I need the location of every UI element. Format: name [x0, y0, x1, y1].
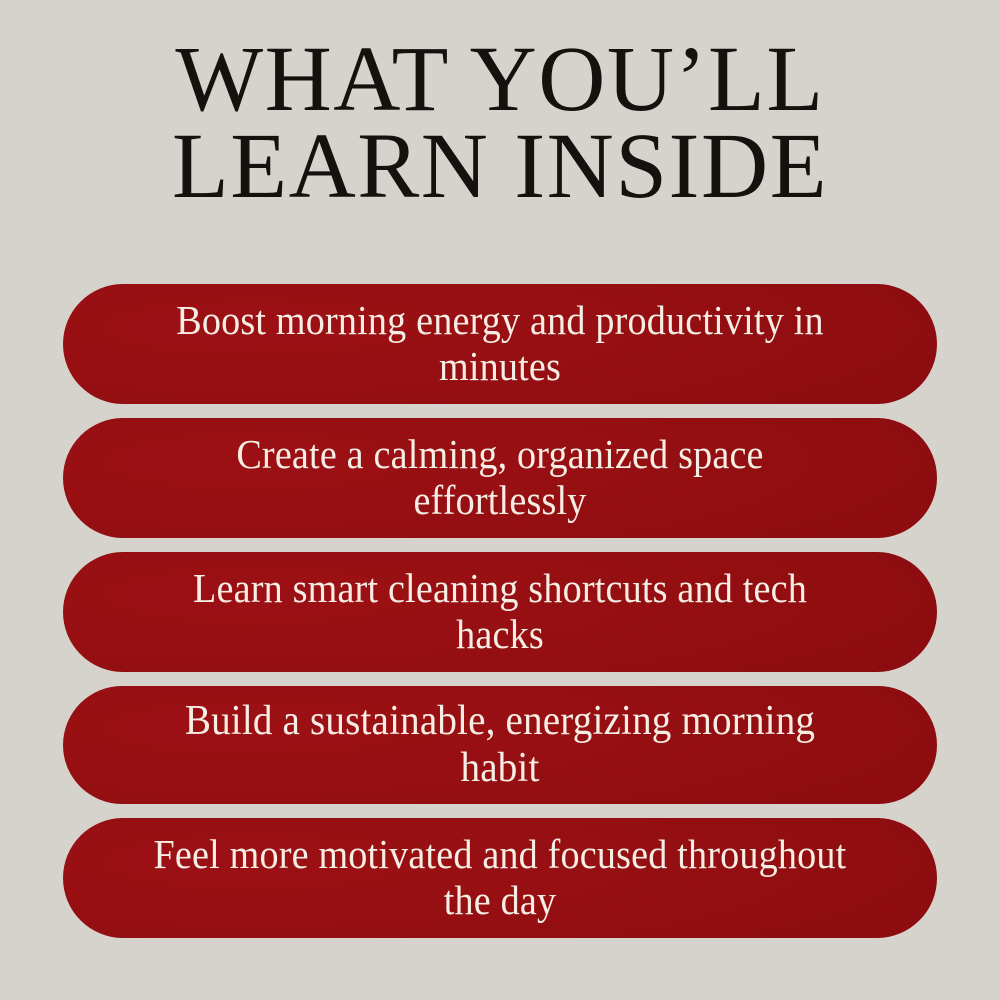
benefit-pill-5-label: Feel more motivated and focused througho…	[148, 832, 853, 924]
benefit-pill-4: Build a sustainable, energizing morning …	[63, 686, 937, 804]
poster-canvas: WHAT YOU’LL LEARN INSIDE Boost morning e…	[0, 0, 1000, 1000]
benefit-pill-2-label: Create a calming, organized space effort…	[148, 432, 853, 524]
benefits-list: Boost morning energy and productivity in…	[63, 284, 937, 938]
benefit-pill-5: Feel more motivated and focused througho…	[63, 818, 937, 938]
page-title-line-2: LEARN INSIDE	[40, 123, 960, 210]
benefit-pill-4-label: Build a sustainable, energizing morning …	[148, 698, 853, 792]
benefit-pill-2: Create a calming, organized space effort…	[63, 418, 937, 538]
benefit-pill-1-label: Boost morning energy and productivity in…	[148, 298, 853, 390]
page-title: WHAT YOU’LL LEARN INSIDE	[0, 36, 1000, 211]
benefit-pill-3-label: Learn smart cleaning shortcuts and tech …	[148, 566, 853, 658]
benefit-pill-1: Boost morning energy and productivity in…	[63, 284, 937, 404]
page-title-line-1: WHAT YOU’LL	[40, 36, 960, 123]
benefit-pill-3: Learn smart cleaning shortcuts and tech …	[63, 552, 937, 672]
